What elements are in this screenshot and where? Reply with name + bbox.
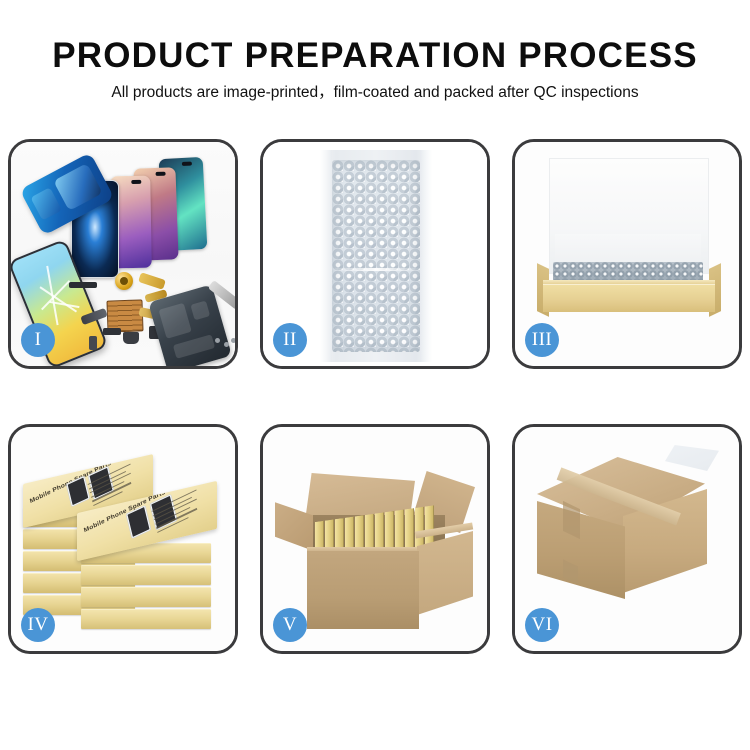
- step-badge-6: VI: [525, 608, 559, 642]
- bubble-grid: [332, 160, 420, 352]
- process-step-panel-3[interactable]: III: [512, 139, 742, 369]
- process-step-panel-6[interactable]: VI: [512, 424, 742, 654]
- page-subtitle: All products are image-printed，film-coat…: [0, 83, 750, 103]
- bubble-wrap-pouch-icon: [320, 150, 432, 362]
- process-step-panel-2[interactable]: II: [260, 139, 490, 369]
- step-badge-3: III: [525, 323, 559, 357]
- page-title: PRODUCT PREPARATION PROCESS: [0, 36, 750, 76]
- step-badge-1: I: [21, 323, 55, 357]
- process-step-grid: I II III: [8, 139, 742, 684]
- carton-front-panel: [307, 551, 419, 629]
- pouch-edge: [320, 150, 332, 362]
- vibration-coil-icon: [115, 272, 133, 290]
- speaker-module-icon: [123, 332, 139, 344]
- pouch-edge: [420, 150, 432, 362]
- step-badge-4: IV: [21, 608, 55, 642]
- process-step-panel-5[interactable]: V: [260, 424, 490, 654]
- process-step-panel-1[interactable]: I: [8, 139, 238, 369]
- kraft-box-front-icon: [543, 284, 715, 312]
- box-slab: [81, 565, 211, 585]
- step-badge-2: II: [273, 323, 307, 357]
- connector-part-icon: [103, 328, 121, 335]
- process-step-panel-4[interactable]: Mobile Phone Spare Parts Mobile Phone Sp…: [8, 424, 238, 654]
- page-header: PRODUCT PREPARATION PROCESS All products…: [0, 0, 750, 118]
- box-slab: [81, 587, 211, 607]
- screws-icon: [215, 338, 235, 350]
- step-badge-5: V: [273, 608, 307, 642]
- plastic-wrap-icon: [665, 445, 719, 471]
- box-stack-icon: Mobile Phone Spare Parts Mobile Phone Sp…: [15, 439, 235, 639]
- speaker-strip-icon: [69, 282, 97, 288]
- pouch-seam: [330, 268, 422, 271]
- box-slab: [81, 609, 211, 629]
- button-part-icon: [89, 336, 97, 350]
